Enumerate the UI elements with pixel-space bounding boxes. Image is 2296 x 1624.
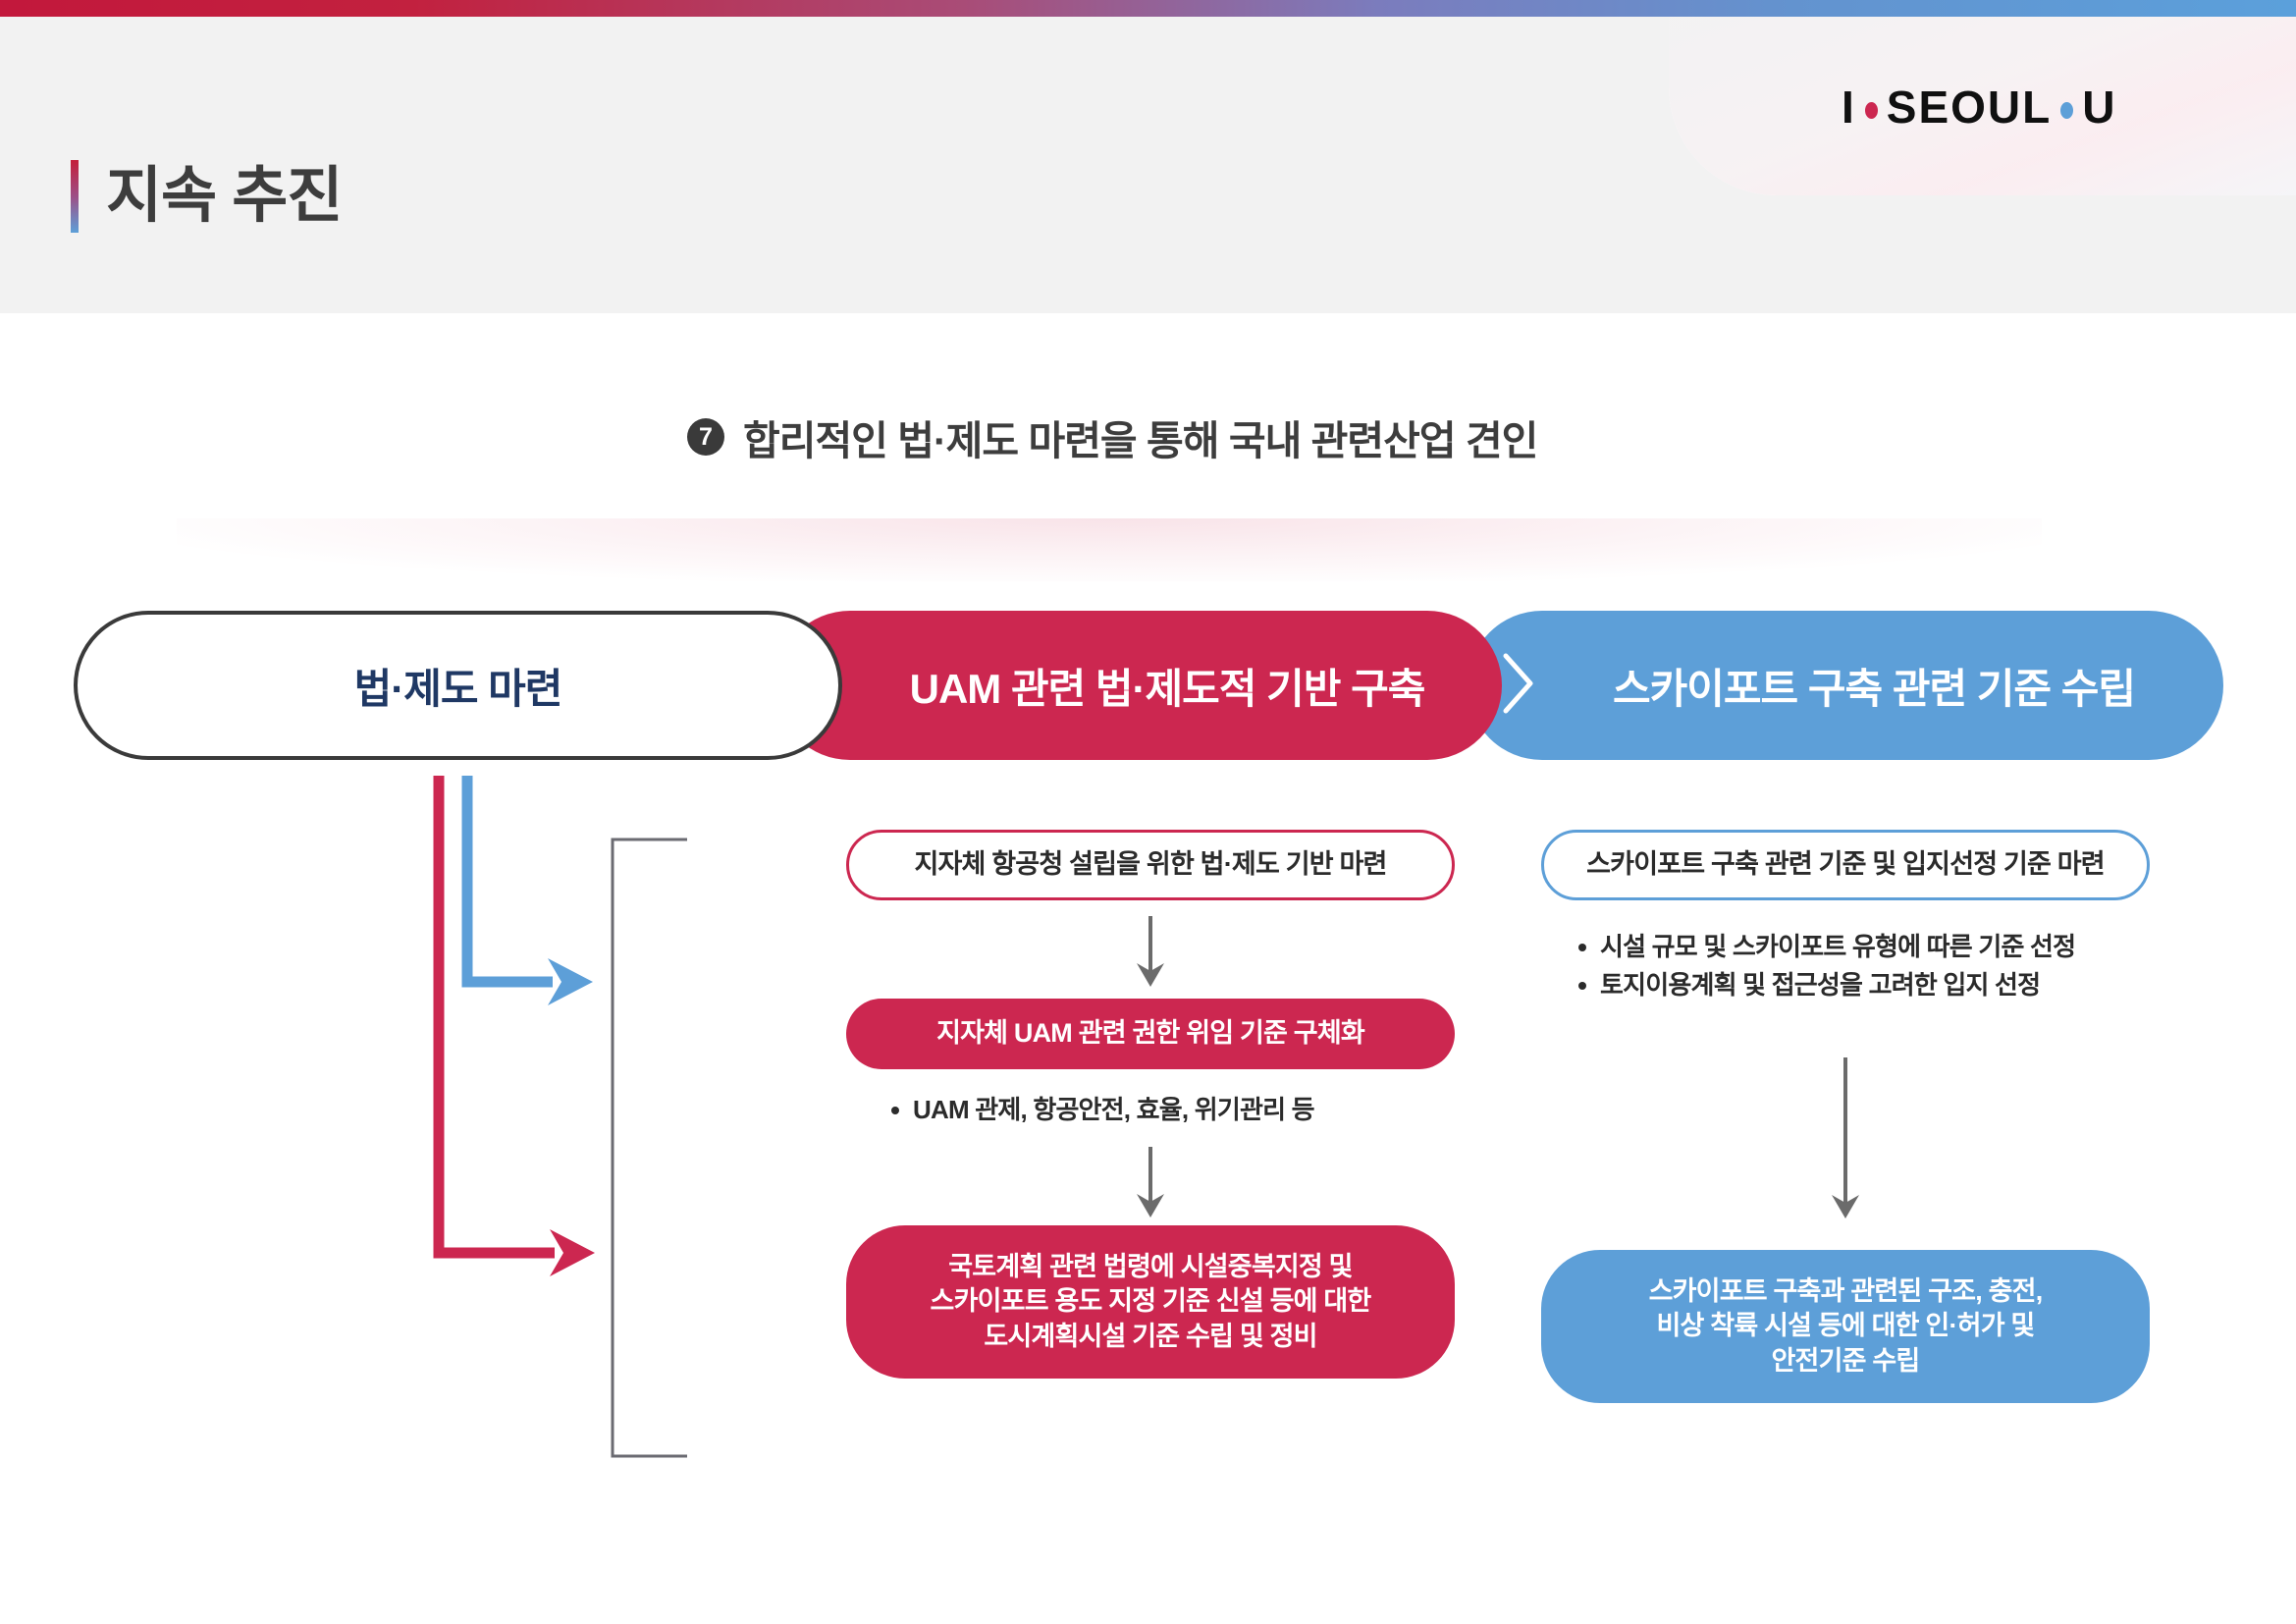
blue-pill-filled-1[interactable]: 스카이포트 구축과 관련된 구조, 충전, 비상 착륙 시설 등에 대한 인·허… <box>1541 1250 2150 1403</box>
red-pill-outline-1-label: 지자체 항공청 설립을 위한 법·제도 기반 마련 <box>914 848 1386 882</box>
blue-pill-outline-1-label: 스카이포트 구축 관련 기준 및 입지선정 기준 마련 <box>1586 848 2105 882</box>
column-skyport: 스카이포트 구축 관련 기준 및 입지선정 기준 마련 시설 규모 및 스카이포… <box>1541 830 2150 1403</box>
soft-divider <box>177 518 2042 581</box>
slide-canvas: I SEOUL U 지속 추진 7 합리적인 법·제도 마련을 통해 국내 관련… <box>0 0 2296 1624</box>
red-pill-filled-2-line-2: 스카이포트 용도 지정 기준 신설 등에 대한 <box>931 1284 1371 1320</box>
title-accent-bar <box>71 160 79 233</box>
column-uam-legal: 지자체 항공청 설립을 위한 법·제도 기반 마련 지자체 UAM 관련 권한 … <box>846 830 1455 1379</box>
chevron-right-icon <box>1500 651 1537 716</box>
logo-text-i: I <box>1842 81 1856 134</box>
blue-pill-filled-1-line-2: 비상 착륙 시설 등에 대한 인·허가 및 <box>1657 1309 2035 1344</box>
blue-bullet-list: 시설 규모 및 스카이포트 유형에 따른 기준 선정 토지이용계획 및 접근성을… <box>1541 928 2150 1004</box>
chevron-right-icon <box>805 651 842 716</box>
red-pill-filled-2-line-3: 도시계획시설 기준 수립 및 정비 <box>984 1320 1316 1355</box>
logo-dot-blue-icon <box>2060 102 2073 119</box>
subtitle-text: 합리적인 법·제도 마련을 통해 국내 관련산업 견인 <box>743 407 1537 466</box>
subtitle-number-badge: 7 <box>687 418 724 456</box>
logo-text-seoul: SEOUL <box>1887 81 2052 134</box>
red-elbow-connector <box>439 776 595 1276</box>
page-title-group: 지속 추진 <box>71 160 342 233</box>
blue-pill-filled-1-line-1: 스카이포트 구축과 관련된 구조, 충전, <box>1649 1274 2043 1310</box>
logo-dot-red-icon <box>1865 102 1878 119</box>
red-pill-filled-2-line-1: 국토계획 관련 법령에 시설중복지정 및 <box>948 1250 1352 1285</box>
banner-segment-legal[interactable]: 법·제도 마련 <box>74 611 842 760</box>
blue-pill-outline-1[interactable]: 스카이포트 구축 관련 기준 및 입지선정 기준 마련 <box>1541 830 2150 900</box>
top-gradient-bar <box>0 0 2296 17</box>
arrow-down-icon <box>1541 1004 2150 1250</box>
banner-segment-legal-label: 법·제도 마련 <box>354 656 562 716</box>
red-pill-filled-1[interactable]: 지자체 UAM 관련 권한 위임 기준 구체화 <box>846 999 1455 1069</box>
red-bullet-list: UAM 관제, 항공안전, 효율, 위기관리 등 <box>846 1091 1455 1129</box>
banner-segment-uam[interactable]: UAM 관련 법·제도적 기반 구축 <box>775 611 1502 760</box>
list-item: UAM 관제, 항공안전, 효율, 위기관리 등 <box>887 1091 1455 1129</box>
banner-row: 스카이포트 구축 관련 기준 수립 UAM 관련 법·제도적 기반 구축 법·제… <box>0 609 2296 766</box>
red-pill-filled-2[interactable]: 국토계획 관련 법령에 시설중복지정 및 스카이포트 용도 지정 기준 신설 등… <box>846 1225 1455 1379</box>
banner-segment-skyport-label: 스카이포트 구축 관련 기준 수립 <box>1613 656 2135 716</box>
i-seoul-u-logo: I SEOUL U <box>1842 81 2116 134</box>
subtitle-group: 7 합리적인 법·제도 마련을 통해 국내 관련산업 견인 <box>687 407 1537 466</box>
red-pill-outline-1[interactable]: 지자체 항공청 설립을 위한 법·제도 기반 마련 <box>846 830 1455 900</box>
list-item: 토지이용계획 및 접근성을 고려한 입지 선정 <box>1575 966 2150 1004</box>
arrow-down-icon <box>846 1129 1455 1225</box>
banner-segment-uam-label: UAM 관련 법·제도적 기반 구축 <box>910 656 1425 716</box>
logo-text-u: U <box>2082 81 2116 134</box>
gray-bracket <box>613 839 687 1456</box>
red-pill-filled-1-label: 지자체 UAM 관련 권한 위임 기준 구체화 <box>936 1016 1364 1052</box>
banner-segment-skyport[interactable]: 스카이포트 구축 관련 기준 수립 <box>1468 611 2223 760</box>
page-title: 지속 추진 <box>106 166 342 227</box>
list-item: 시설 규모 및 스카이포트 유형에 따른 기준 선정 <box>1575 928 2150 966</box>
arrow-down-icon <box>846 900 1455 999</box>
blue-pill-filled-1-line-3: 안전기준 수립 <box>1772 1344 1920 1380</box>
blue-elbow-connector <box>467 776 593 1005</box>
